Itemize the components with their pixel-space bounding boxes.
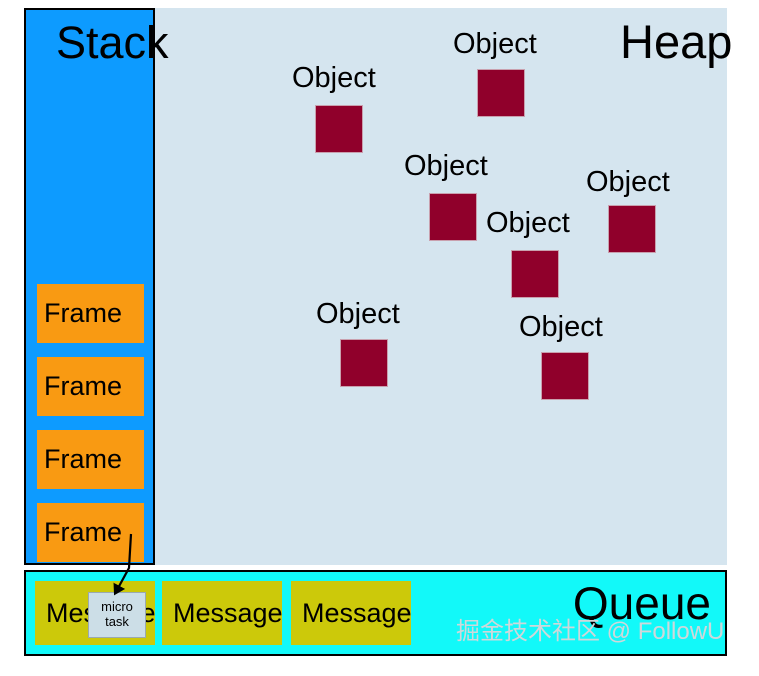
heap-object-label: Object — [519, 313, 603, 342]
stack-frame-label: Frame — [44, 446, 122, 473]
heap-object-square — [541, 352, 589, 400]
stack-frame-label: Frame — [44, 300, 122, 327]
heap-label: Heap — [620, 18, 732, 65]
heap-object-label: Object — [486, 209, 570, 238]
heap-object-square — [477, 69, 525, 117]
stack-frame[interactable]: Frame — [37, 357, 144, 416]
heap-object-label: Object — [292, 64, 376, 93]
queue-message[interactable]: Message — [162, 581, 282, 645]
stack-frame[interactable]: Frame — [37, 430, 144, 489]
stack-label: Stack — [56, 20, 169, 65]
stack-frame[interactable]: Frame — [37, 503, 144, 562]
watermark-text: 掘金技术社区 @ FollowU — [456, 620, 724, 644]
microtask-box[interactable]: micro task — [88, 592, 146, 638]
microtask-line-2: task — [105, 615, 129, 630]
heap-object-label: Object — [453, 30, 537, 59]
diagram-canvas: Heap ObjectObjectObjectObjectObjectObjec… — [0, 0, 759, 676]
stack-frame-label: Frame — [44, 373, 122, 400]
heap-object-square — [608, 205, 656, 253]
queue-message-label: Message — [302, 600, 411, 627]
heap-object-label: Object — [586, 168, 670, 197]
heap-object-square — [315, 105, 363, 153]
queue-message[interactable]: Message — [291, 581, 411, 645]
heap-object-label: Object — [404, 152, 488, 181]
heap-object-square — [429, 193, 477, 241]
stack-frame[interactable]: Frame — [37, 284, 144, 343]
queue-message-label: Message — [173, 600, 282, 627]
heap-object-square — [511, 250, 559, 298]
stack-frame-label: Frame — [44, 519, 122, 546]
heap-object-square — [340, 339, 388, 387]
microtask-line-1: micro — [101, 600, 133, 615]
heap-object-label: Object — [316, 300, 400, 329]
stack-panel: Stack FrameFrameFrameFrame — [24, 8, 155, 565]
